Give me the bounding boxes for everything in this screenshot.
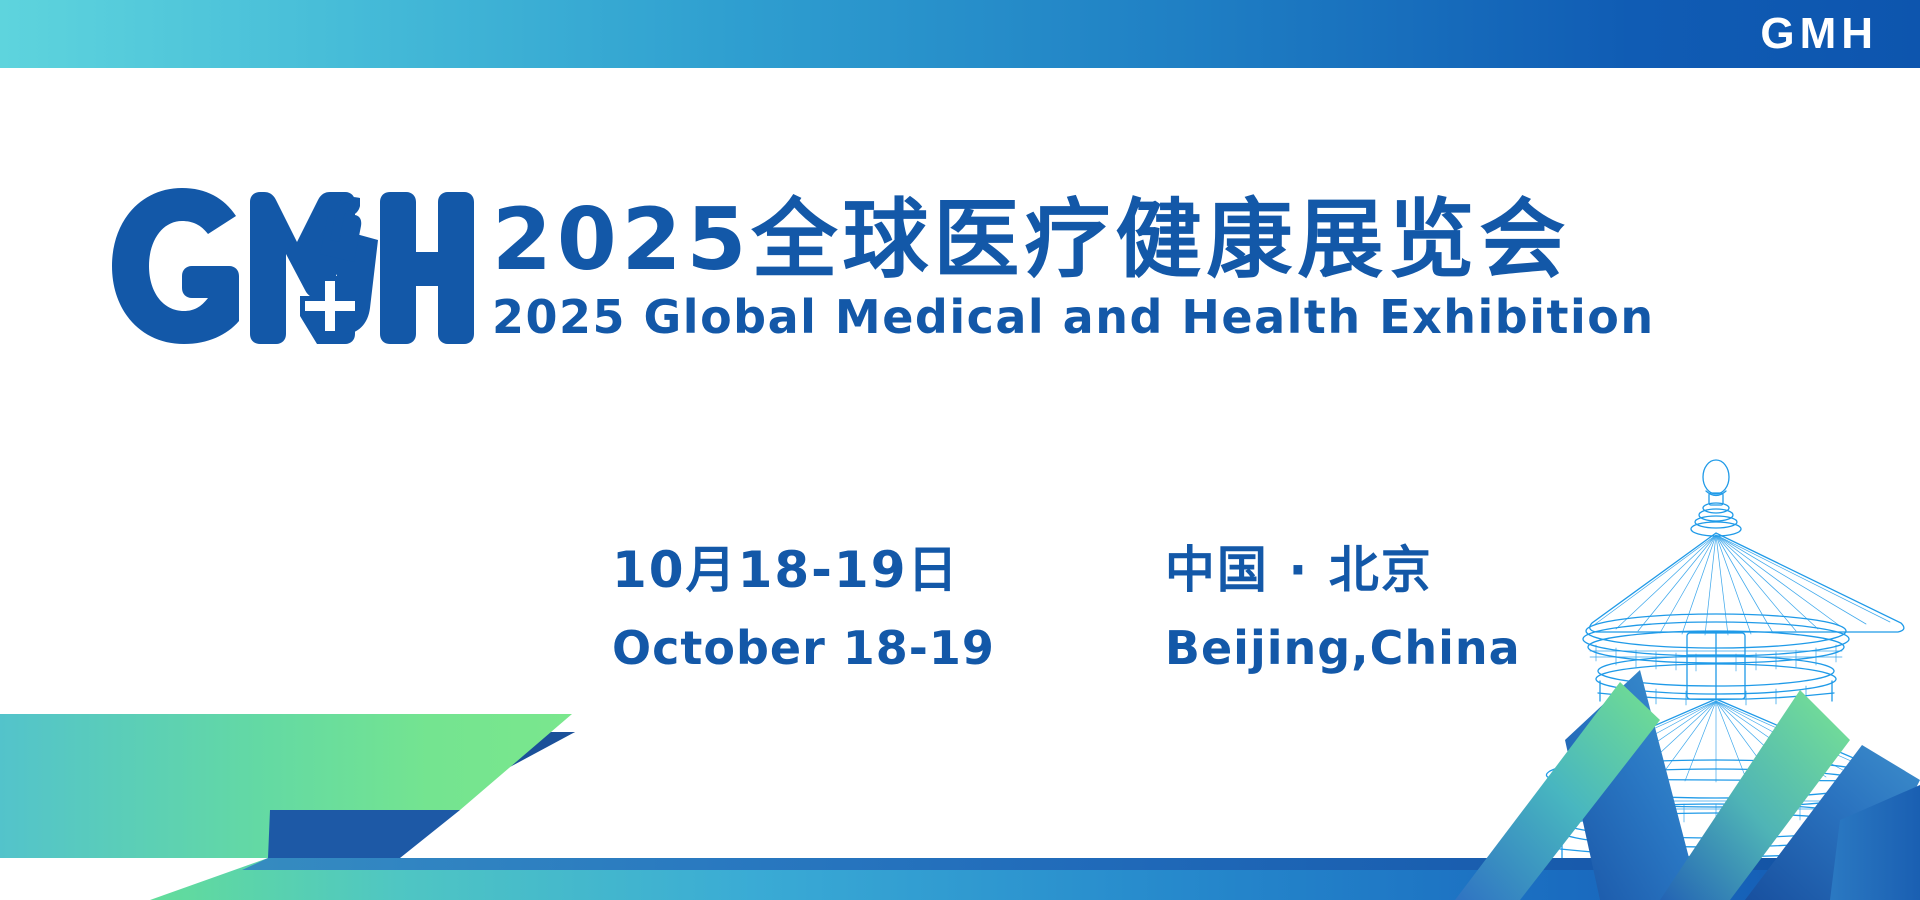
gmh-logo-mark — [108, 188, 478, 348]
event-title-block: 2025全球医疗健康展览会 2025 Global Medical and He… — [492, 196, 1655, 341]
event-date-block: 10月18-19日 October 18-19 — [612, 542, 995, 674]
event-title-english: 2025 Global Medical and Health Exhibitio… — [492, 293, 1655, 341]
event-date-chinese: 10月18-19日 — [612, 542, 995, 600]
event-date-english: October 18-19 — [612, 622, 995, 675]
event-banner: GMH — [0, 0, 1920, 900]
event-place-block: 中国 · 北京 Beijing,China — [1165, 542, 1521, 674]
top-gradient-bar: GMH — [0, 0, 1920, 68]
event-info-row: 10月18-19日 October 18-19 中国 · 北京 Beijing,… — [612, 542, 1521, 674]
event-place-english: Beijing,China — [1165, 622, 1521, 675]
event-place-chinese: 中国 · 北京 — [1165, 542, 1521, 600]
event-title-chinese: 2025全球医疗健康展览会 — [492, 196, 1655, 285]
topbar-brand-text: GMH — [1760, 12, 1878, 56]
temple-of-heaven-illustration — [1530, 455, 1920, 900]
